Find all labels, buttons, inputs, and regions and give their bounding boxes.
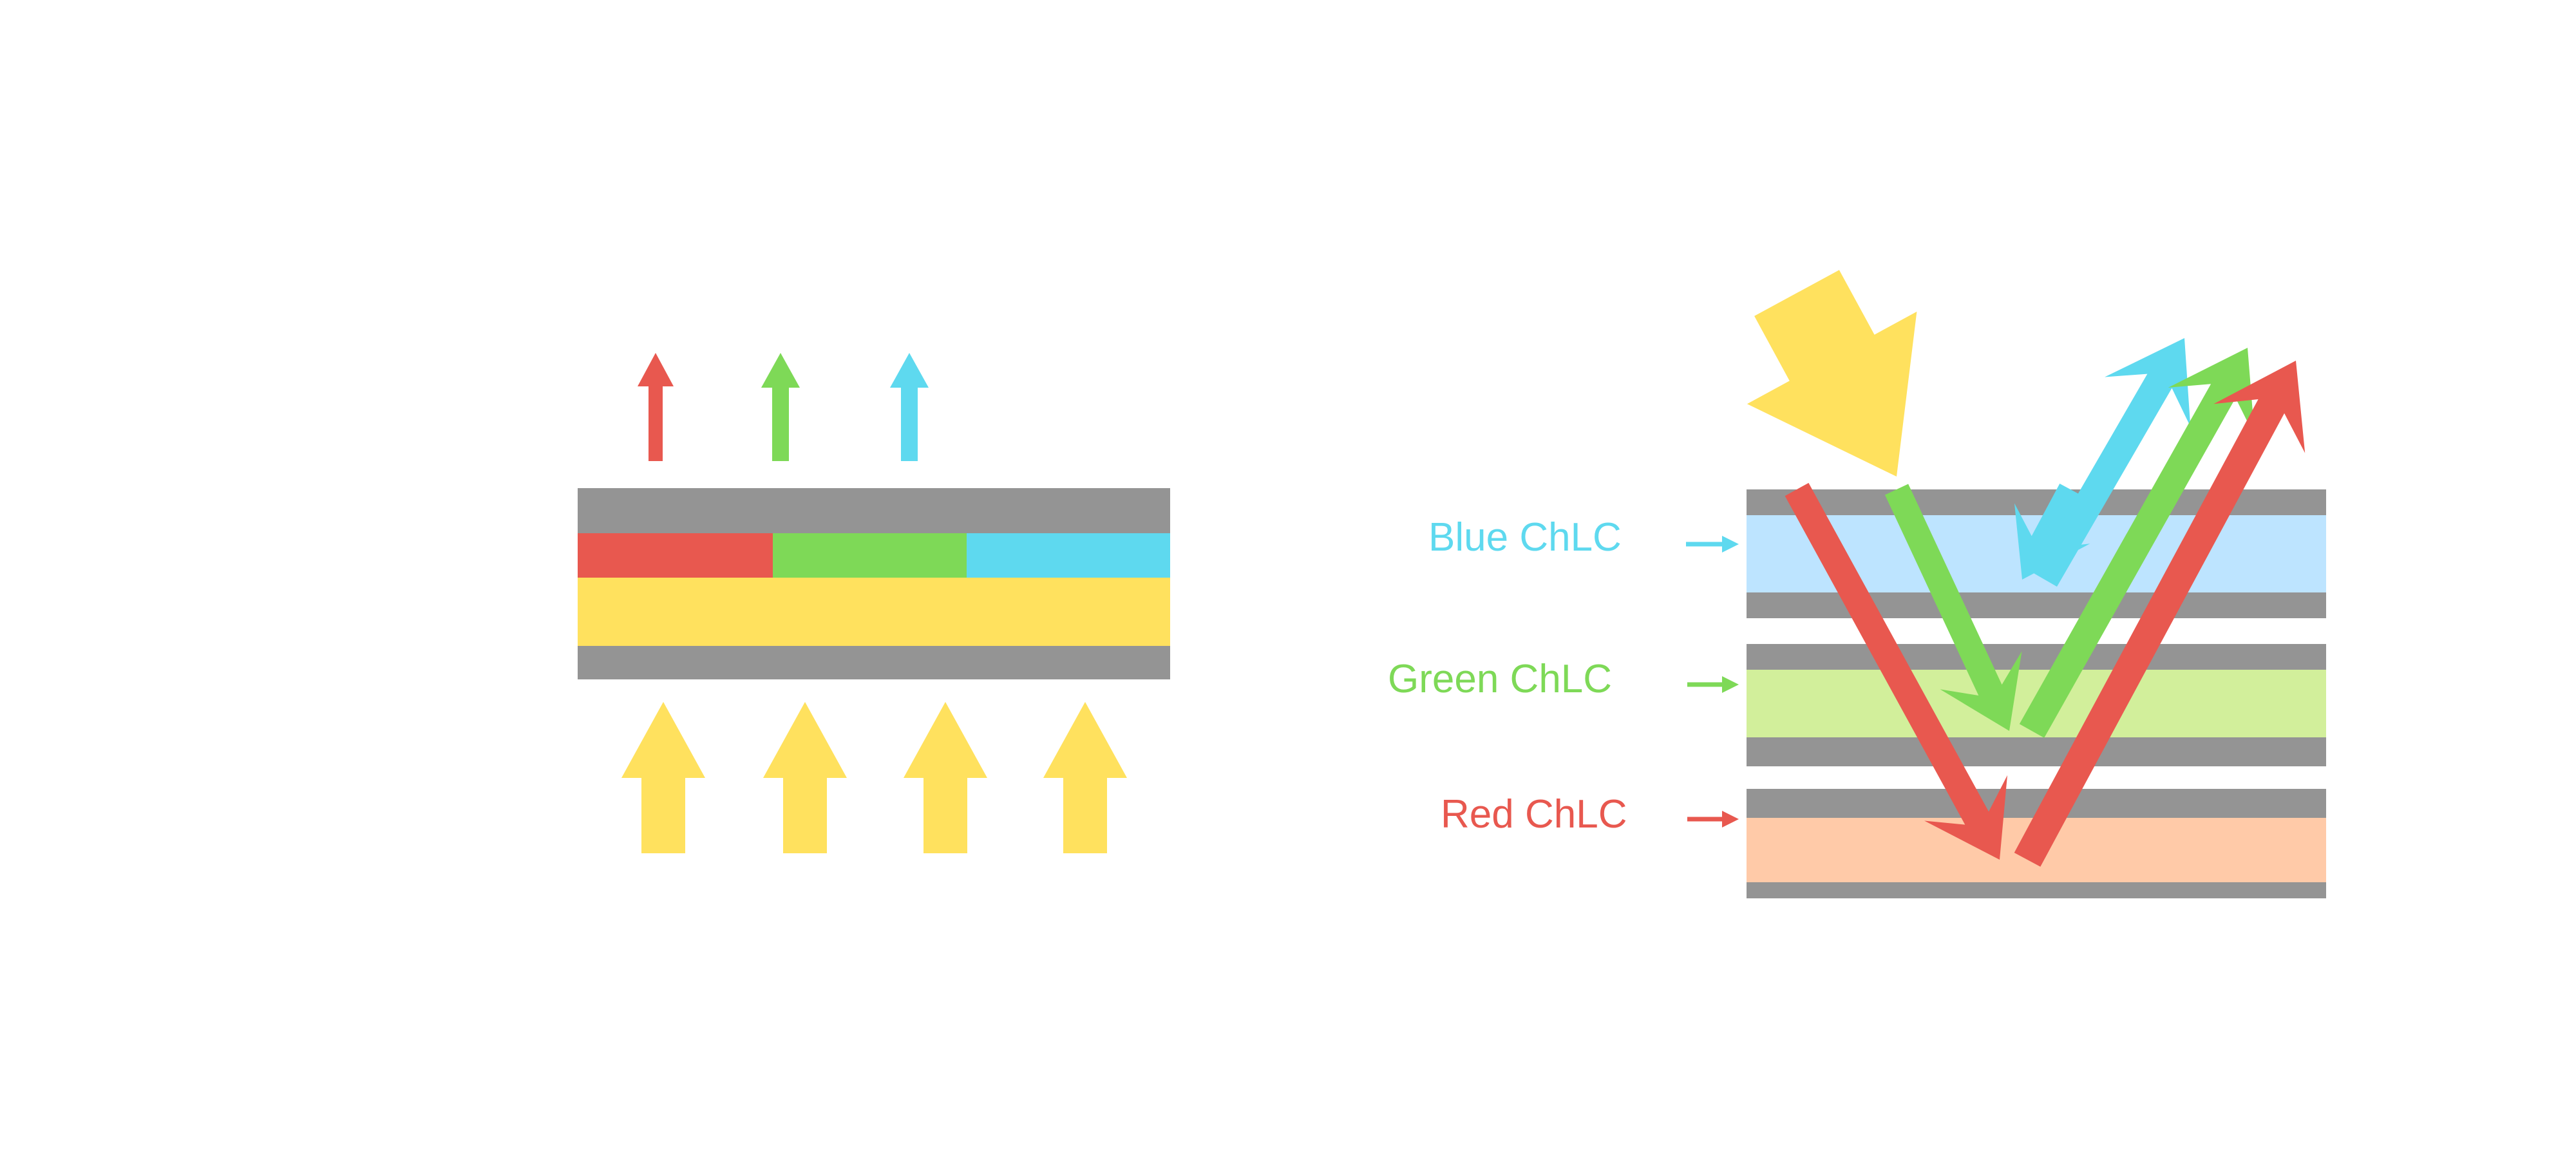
- diagram-svg: Blue ChLCGreen ChLCRed ChLC: [0, 0, 2576, 1154]
- bottom-electrode: [578, 646, 1170, 679]
- red-filter: [578, 533, 773, 578]
- green-filter: [773, 533, 967, 578]
- red-chlc-label: Red ChLC: [1441, 792, 1627, 837]
- diagram-canvas: Blue ChLCGreen ChLCRed ChLC: [0, 0, 2576, 1154]
- green-emitted-arrow: [761, 353, 800, 461]
- blue-bottom-substrate: [1747, 592, 2326, 618]
- cyan-filter: [967, 533, 1170, 578]
- green-bottom-substrate: [1747, 737, 2326, 766]
- green-chlc-label-pointer-arrow-icon: [1722, 676, 1739, 693]
- backlight-arrow-2: [763, 702, 847, 853]
- red-emitted-arrow: [638, 353, 674, 461]
- red-chlc-label-pointer-arrow-icon: [1722, 811, 1739, 828]
- backlight-arrow-3: [904, 702, 987, 853]
- cyan-emitted-arrow: [890, 353, 929, 461]
- green-chlc-label: Green ChLC: [1388, 657, 1612, 701]
- blue-chlc-label-pointer-arrow-icon: [1722, 536, 1739, 553]
- top-electrode: [578, 488, 1170, 533]
- backlight-arrow-4: [1043, 702, 1127, 853]
- backlight-arrow-1: [621, 702, 705, 853]
- red-bottom-substrate: [1747, 882, 2326, 898]
- backlight-layer: [578, 578, 1170, 646]
- green-top-substrate: [1747, 644, 2326, 670]
- ambient-light-arrow: [1747, 270, 1917, 477]
- blue-chlc-label: Blue ChLC: [1428, 515, 1622, 560]
